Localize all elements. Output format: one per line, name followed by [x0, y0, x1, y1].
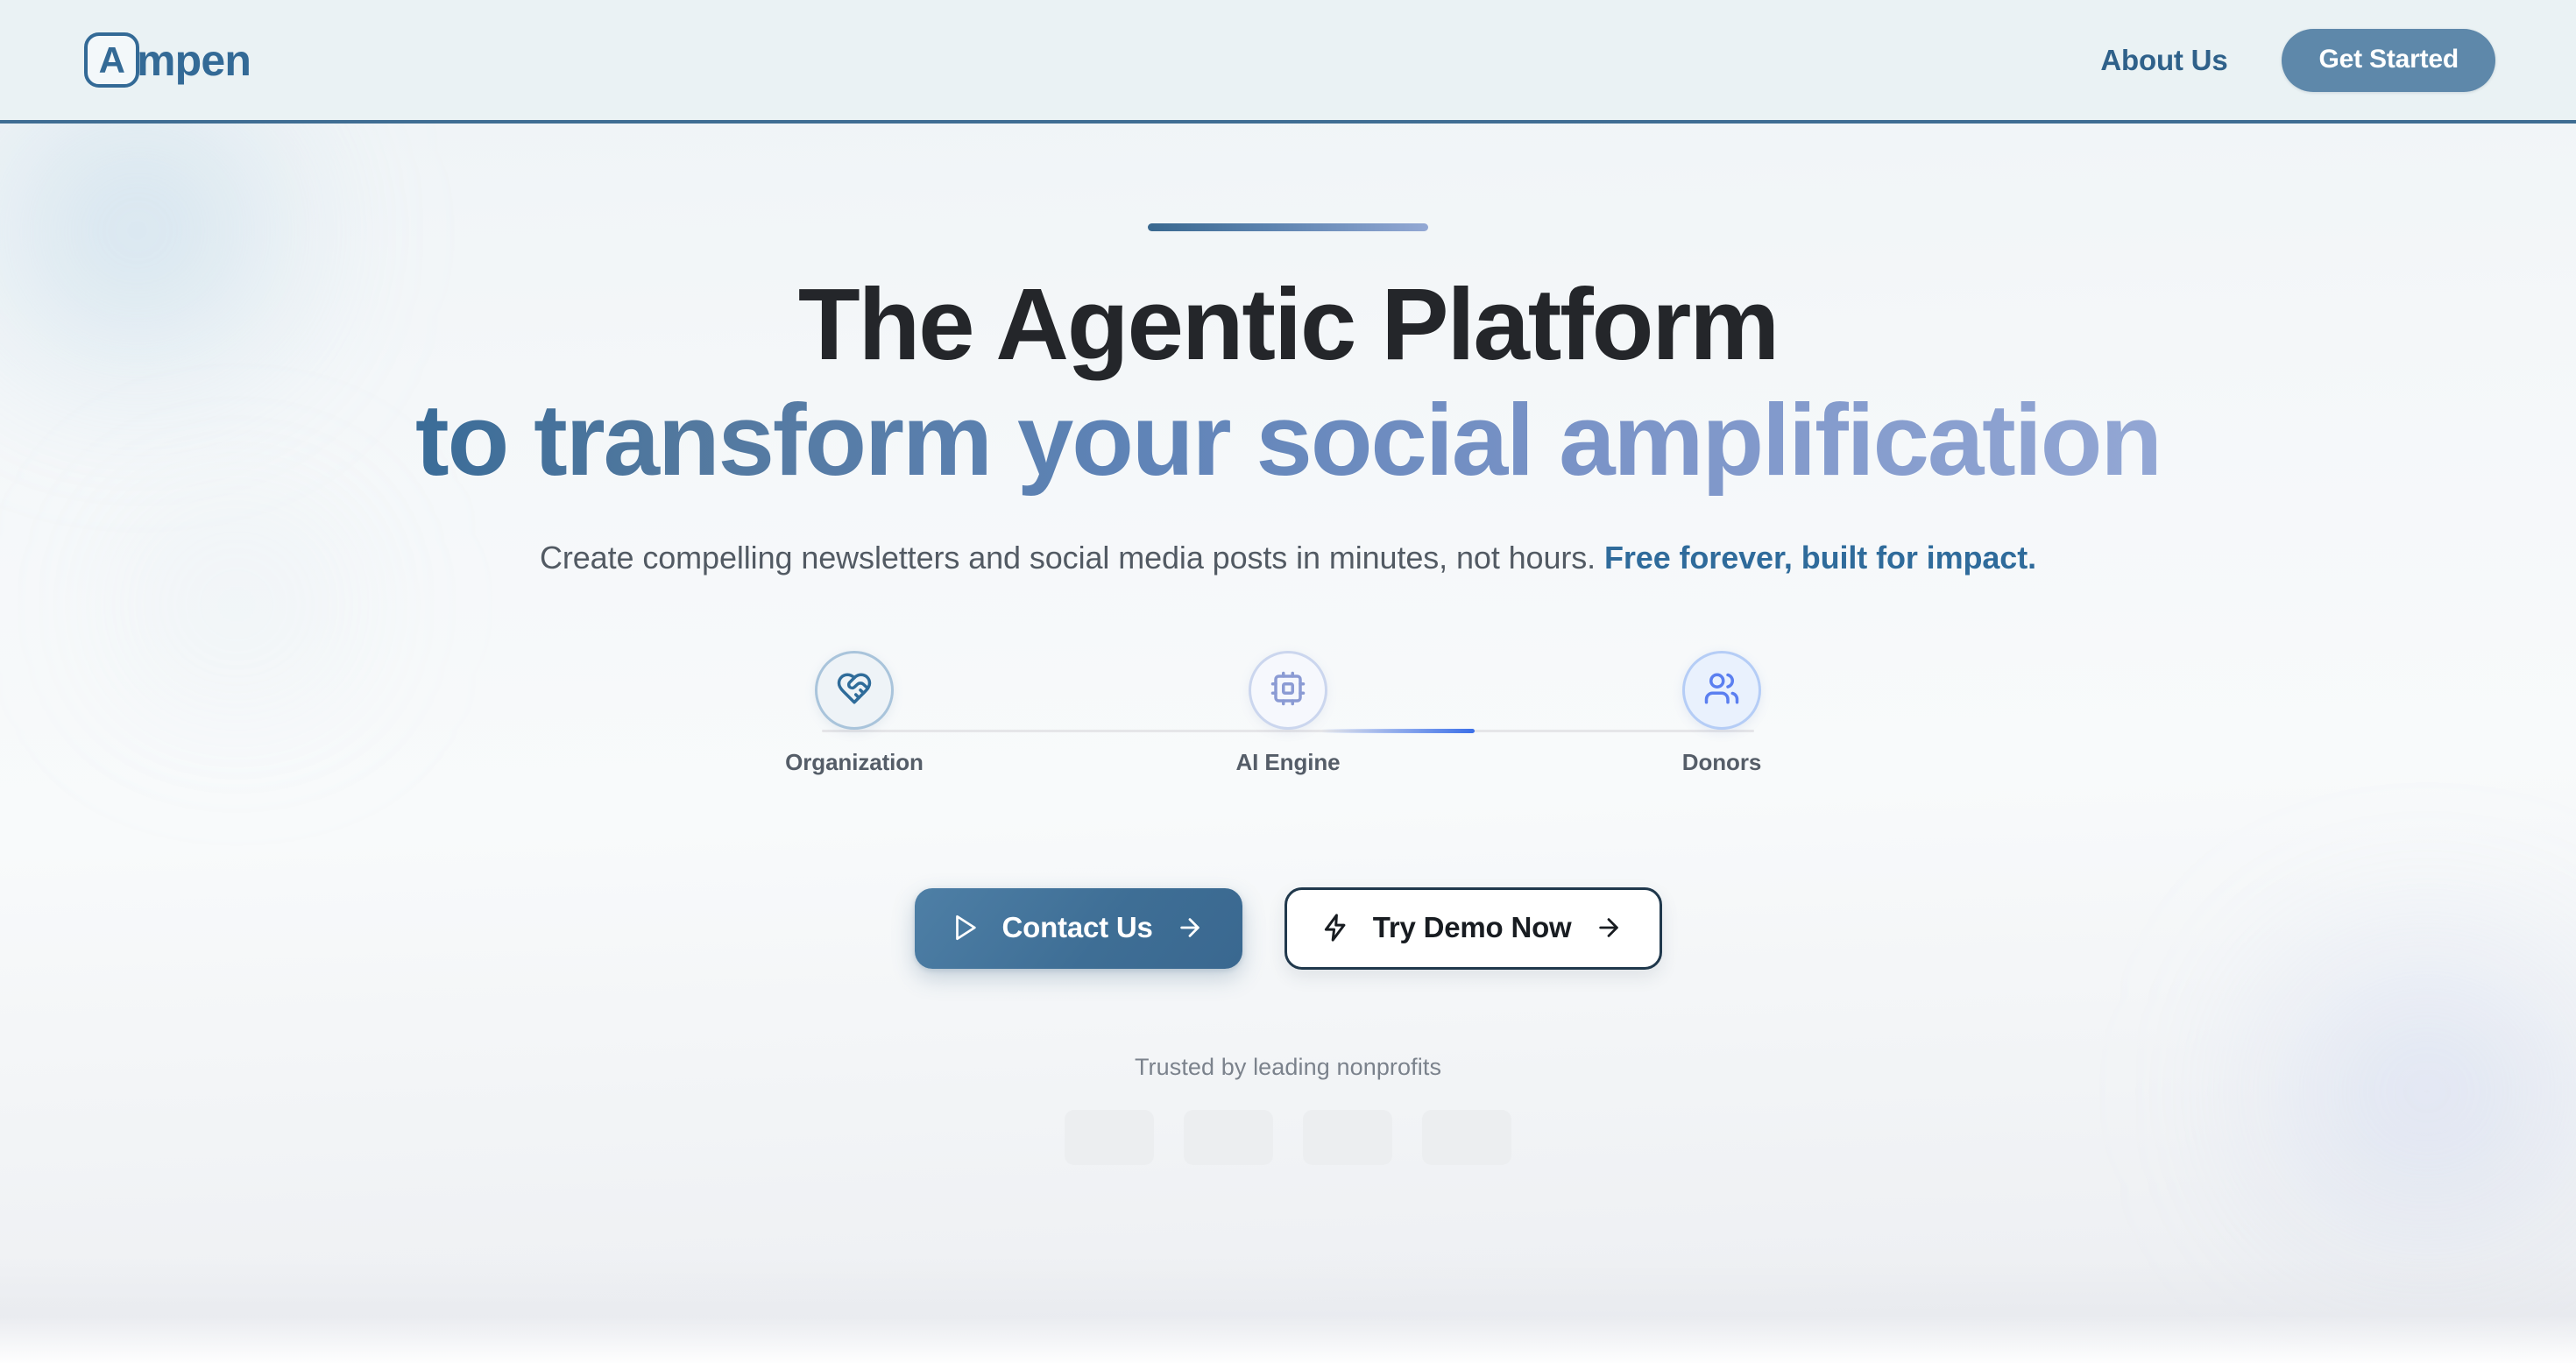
hero-subheadline: Create compelling newsletters and social… [517, 534, 2059, 583]
page-title: The Agentic Platform to transform your s… [415, 266, 2161, 498]
site-header: A mpen About Us Get Started [0, 0, 2576, 124]
get-started-button[interactable]: Get Started [2282, 29, 2495, 92]
arrow-right-icon [1176, 914, 1204, 942]
contact-us-button-label: Contact Us [1002, 911, 1153, 944]
flow-node-organization-label: Organization [785, 749, 924, 776]
partner-logo-row [1065, 1110, 1511, 1165]
flow-node-donors-label: Donors [1682, 749, 1761, 776]
nav-item-about-us[interactable]: About Us [2100, 44, 2227, 77]
flow-diagram: Organization AI Engin [754, 651, 1822, 810]
accent-bar [1148, 223, 1428, 231]
brand-mark-letter: A [99, 42, 125, 79]
flow-node-ai-engine[interactable]: AI Engine [1187, 651, 1389, 776]
trust-strip: Trusted by leading nonprofits [1065, 1054, 1511, 1165]
subheadline-highlight-text: Free forever, built for impact. [1604, 540, 2036, 576]
flow-node-ai-engine-label: AI Engine [1236, 749, 1341, 776]
subheadline-plain-text: Create compelling newsletters and social… [540, 540, 1604, 576]
flow-node-donors[interactable]: Donors [1621, 651, 1822, 776]
headline-line-1: The Agentic Platform [415, 266, 2161, 382]
users-icon [1703, 670, 1740, 711]
trust-caption: Trusted by leading nonprofits [1135, 1054, 1441, 1081]
play-icon [950, 913, 980, 943]
cpu-chip-icon [1270, 670, 1306, 711]
partner-logo-placeholder [1422, 1110, 1511, 1165]
contact-us-button[interactable]: Contact Us [915, 888, 1242, 969]
lightning-bolt-icon [1320, 913, 1350, 943]
headline-line-2: to transform your social amplification [415, 382, 2161, 498]
flow-node-ai-engine-circle [1249, 651, 1327, 730]
flow-node-organization[interactable]: Organization [754, 651, 955, 776]
try-demo-now-button[interactable]: Try Demo Now [1284, 887, 1662, 970]
hero-section: The Agentic Platform to transform your s… [0, 124, 2576, 1363]
flow-node-organization-circle [815, 651, 894, 730]
cta-button-row: Contact Us Try Demo Now [915, 887, 1662, 970]
try-demo-now-button-label: Try Demo Now [1373, 911, 1572, 944]
brand-logo[interactable]: A mpen [84, 32, 251, 88]
flow-node-donors-circle [1682, 651, 1761, 730]
partner-logo-placeholder [1065, 1110, 1154, 1165]
heart-handshake-icon [836, 670, 873, 711]
partner-logo-placeholder [1303, 1110, 1392, 1165]
header-actions: About Us Get Started [2100, 29, 2495, 92]
arrow-right-icon [1595, 914, 1623, 942]
brand-wordmark: mpen [137, 39, 251, 82]
partner-logo-placeholder [1184, 1110, 1273, 1165]
brand-mark-icon: A [84, 32, 139, 88]
